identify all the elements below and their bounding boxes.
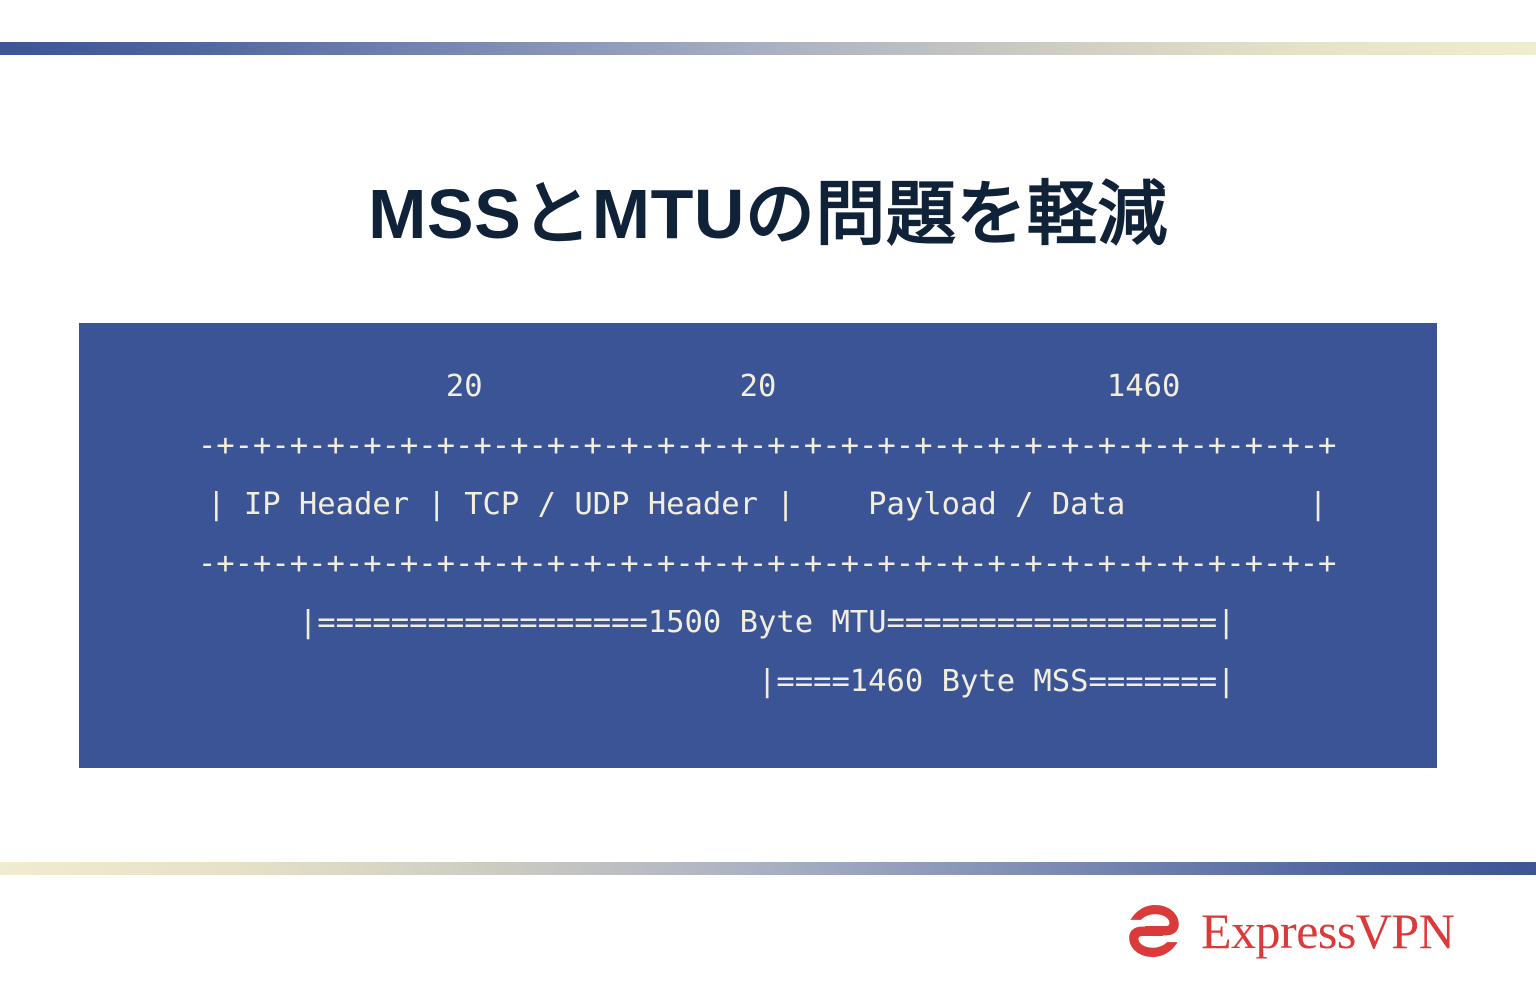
page-title: MSSとMTUの問題を軽減 <box>0 175 1536 253</box>
expressvpn-e-mark-icon <box>1123 900 1185 962</box>
top-gradient-rule <box>0 42 1536 55</box>
expressvpn-logo: ExpressVPN <box>1123 900 1454 962</box>
ascii-line-fields: | IP Header | TCP / UDP Header | Payload… <box>79 475 1437 534</box>
bottom-gradient-rule <box>0 862 1536 875</box>
packet-ascii-diagram: 20 20 1460 -+-+-+-+-+-+-+-+-+-+-+-+-+-+-… <box>79 357 1437 711</box>
ascii-line-sizes: 20 20 1460 <box>79 357 1437 416</box>
ascii-line-mss-span: |====1460 Byte MSS=======| <box>79 652 1437 711</box>
expressvpn-wordmark: ExpressVPN <box>1201 906 1454 956</box>
ascii-line-mtu-span: |==================1500 Byte MTU========… <box>79 593 1437 652</box>
ascii-line-bottom-border: -+-+-+-+-+-+-+-+-+-+-+-+-+-+-+-+-+-+-+-+… <box>79 534 1437 593</box>
ascii-line-top-border: -+-+-+-+-+-+-+-+-+-+-+-+-+-+-+-+-+-+-+-+… <box>79 416 1437 475</box>
packet-diagram-panel: 20 20 1460 -+-+-+-+-+-+-+-+-+-+-+-+-+-+-… <box>79 323 1437 768</box>
